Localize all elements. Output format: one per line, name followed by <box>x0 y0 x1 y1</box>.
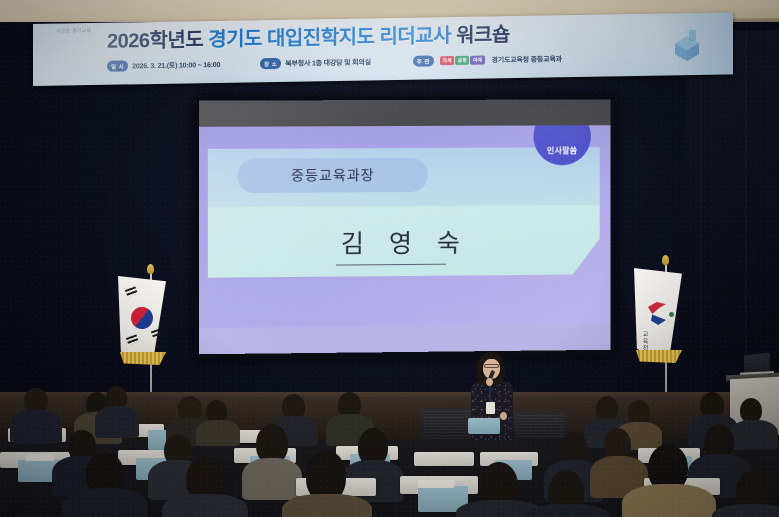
banner-badge-2: 공정 <box>455 56 469 65</box>
attendee-body <box>242 458 302 500</box>
presentation-slide: 중등교육과장 김 영 숙 인사말씀 <box>199 125 611 328</box>
flag-fringe-left <box>120 352 166 365</box>
attendee-body <box>62 488 148 517</box>
attendee-body <box>10 410 62 444</box>
flag-emblem-dot <box>669 312 674 317</box>
attendee-body <box>196 420 240 446</box>
attendee-body <box>95 406 139 438</box>
presenter-id-badge <box>486 402 495 414</box>
attendee-body <box>622 484 716 517</box>
banner-chip-venue: 장 소 <box>260 58 281 69</box>
banner-title: 2026학년도 경기도 대입진학지도 리더교사 워크숍 <box>107 24 510 53</box>
banner-badge-3: 미래 <box>470 56 484 65</box>
banner-badge-1: 자세 <box>440 56 454 65</box>
presenter-hand-left <box>486 378 493 386</box>
presenter-hand-right <box>500 412 507 420</box>
attendee-body <box>162 494 248 517</box>
wall-seam <box>745 34 746 364</box>
banner-chip-organizer: 주 관 <box>413 55 434 66</box>
banner-title-part-2: 경기도 대입진학지도 리더교사 <box>208 25 456 51</box>
slide-role-label: 중등교육과장 <box>237 158 428 193</box>
slide-top-band <box>199 99 611 126</box>
banner-organizer-value: 경기도교육청 중등교육과 <box>491 54 561 65</box>
speaker-grille-right <box>516 415 564 439</box>
wall-seam <box>700 34 701 364</box>
banner-chip-datetime: 일 시 <box>107 60 128 71</box>
handout-paper <box>26 454 54 461</box>
banner-detail-datetime: 일 시2026. 3. 21.(토) 10:00 ~ 16:00 <box>107 59 220 72</box>
flag-fringe-right <box>636 350 682 363</box>
projection-screen: 중등교육과장 김 영 숙 인사말씀 <box>199 99 611 354</box>
photo-scene: 새로운 경기교육 2026학년도 경기도 대입진학지도 리더교사 워크숍 일 시… <box>0 0 779 517</box>
event-banner: 새로운 경기교육 2026학년도 경기도 대입진학지도 리더교사 워크숍 일 시… <box>33 12 733 86</box>
banner-tagline: 새로운 경기교육 <box>56 27 91 35</box>
glasses-icon <box>484 364 499 368</box>
banner-detail-organizer: 주 관 자세공정미래 경기도교육청 중등교육과 <box>413 53 562 66</box>
banner-datetime-value: 2026. 3. 21.(토) 10:00 ~ 16:00 <box>132 59 220 70</box>
attendee-body <box>282 494 372 517</box>
attendee-body <box>730 420 778 450</box>
banner-detail-venue: 장 소북부청사 1층 대강당 및 회의실 <box>260 56 371 69</box>
banner-title-part-1: 2026학년도 <box>107 29 208 53</box>
slide-badge-label: 인사말씀 <box>533 125 590 165</box>
desk-panel <box>468 418 500 434</box>
slide-speaker-name: 김 영 숙 <box>259 223 549 261</box>
attendee-body <box>526 504 610 517</box>
banner-title-part-3: 워크숍 <box>456 24 510 47</box>
desk <box>414 452 474 466</box>
handout-paper <box>418 480 454 488</box>
banner-venue-value: 북부청사 1층 대강당 및 회의실 <box>285 57 371 68</box>
slide-bottom-band <box>199 324 611 354</box>
flag-finial-left <box>147 264 154 274</box>
flag-finial-right <box>662 255 669 265</box>
